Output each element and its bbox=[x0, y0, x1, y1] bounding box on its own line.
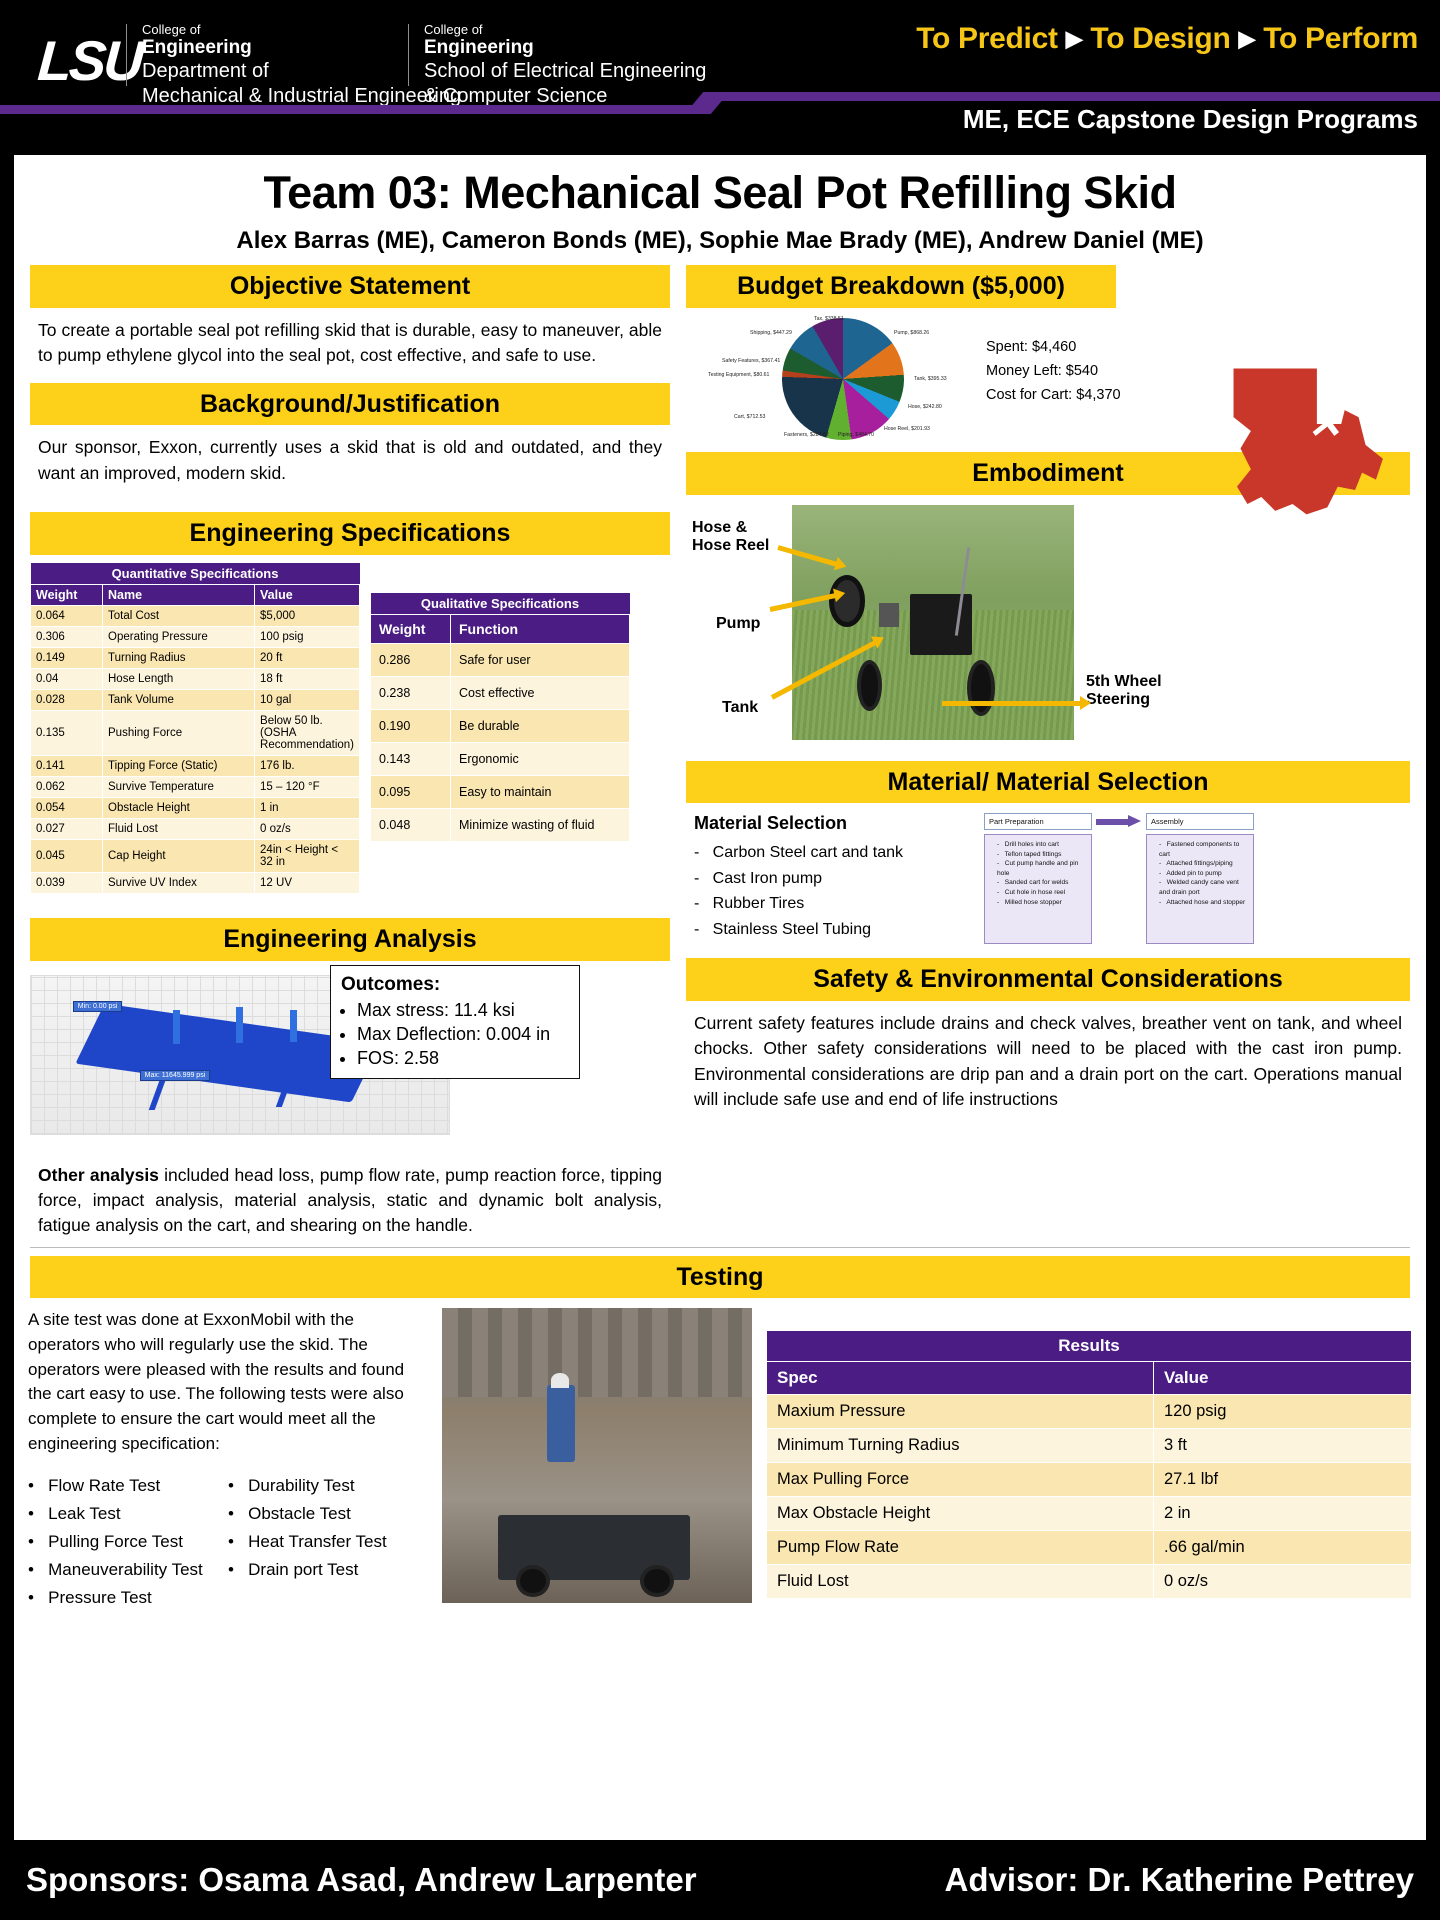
list-item: Heat Transfer Test bbox=[228, 1528, 387, 1556]
material-list: Carbon Steel cart and tank Cast Iron pum… bbox=[694, 840, 974, 942]
test-wheel-left bbox=[516, 1565, 550, 1597]
quant-header-weight: Weight bbox=[31, 584, 103, 605]
testing-lists: Flow Rate Test Leak Test Pulling Force T… bbox=[28, 1472, 428, 1612]
dept-me-line1: Department of bbox=[142, 59, 461, 84]
table-row: 0.027Fluid Lost0 oz/s bbox=[31, 818, 360, 839]
flow-steps-prep: Drill holes into cart Teflon taped fitti… bbox=[984, 834, 1092, 944]
budget-summary: Spent: $4,460 Money Left: $540 Cost for … bbox=[986, 314, 1121, 408]
list-item: Added pin to pump bbox=[1159, 869, 1249, 879]
quant-header-value: Value bbox=[255, 584, 360, 605]
label-fifth-wheel-text: 5th Wheel Steering bbox=[1086, 673, 1162, 708]
list-item: Pulling Force Test bbox=[28, 1528, 218, 1556]
testing-content-row: A site test was done at ExxonMobil with … bbox=[14, 1298, 1426, 1612]
list-item: Fastened components to cart bbox=[1159, 840, 1249, 859]
list-item: Milled hose stopper bbox=[997, 898, 1087, 908]
dept-ece-engineering: Engineering bbox=[424, 37, 706, 59]
table-row: 0.149Turning Radius20 ft bbox=[31, 647, 360, 668]
cell-value: 24in < Height < 32 in bbox=[255, 839, 360, 872]
cell-value: 1 in bbox=[255, 797, 360, 818]
qual-header-function: Function bbox=[451, 614, 630, 643]
results-table-title: Results bbox=[767, 1331, 1412, 1362]
cell-name: Survive UV Index bbox=[103, 872, 255, 893]
page-header: LSU College of Engineering Department of… bbox=[0, 0, 1440, 145]
cell-value: 20 ft bbox=[255, 647, 360, 668]
cell-weight: 0.04 bbox=[31, 668, 103, 689]
tagline-design: To Design bbox=[1090, 22, 1230, 55]
qualitative-specs-table: Qualitative Specifications Weight Functi… bbox=[370, 593, 630, 842]
safety-text: Current safety features include drains a… bbox=[686, 1001, 1410, 1117]
qual-header-row: Weight Function bbox=[371, 614, 630, 643]
list-item: Stainless Steel Tubing bbox=[694, 917, 974, 943]
pie-label-safety: Safety Features, $367.41 bbox=[722, 358, 780, 364]
objective-text: To create a portable seal pot refilling … bbox=[30, 308, 670, 373]
fea-pin-3 bbox=[290, 1010, 297, 1042]
cell-weight: 0.028 bbox=[31, 689, 103, 710]
quantitative-table-wrap: Quantitative Specifications Weight Name … bbox=[30, 563, 360, 894]
hard-hat bbox=[551, 1373, 570, 1388]
pie-label-pump: Pump, $868.26 bbox=[894, 330, 929, 336]
cell-value: 100 psig bbox=[255, 626, 360, 647]
list-item: Max Deflection: 0.004 in bbox=[357, 1022, 569, 1046]
operator-figure bbox=[547, 1385, 575, 1462]
cell-value: 3 ft bbox=[1154, 1429, 1412, 1463]
pie-graphic bbox=[782, 318, 904, 440]
cell-value: 12 UV bbox=[255, 872, 360, 893]
dept-ece-line1: School of Electrical Engineering bbox=[424, 59, 706, 84]
capstone-program-label: ME, ECE Capstone Design Programs bbox=[963, 104, 1418, 135]
testing-list-right: Durability Test Obstacle Test Heat Trans… bbox=[228, 1472, 387, 1612]
wheel-rear bbox=[967, 660, 995, 716]
pie-label-piping: Piping, $484.70 bbox=[838, 432, 874, 438]
cell-weight: 0.048 bbox=[371, 808, 451, 841]
cell-spec: Maxium Pressure bbox=[767, 1395, 1154, 1429]
table-row: 0.135Pushing ForceBelow 50 lb. (OSHA Rec… bbox=[31, 710, 360, 755]
list-item: Durability Test bbox=[228, 1472, 387, 1500]
cell-value: 0 oz/s bbox=[255, 818, 360, 839]
outcomes-list: Max stress: 11.4 ksi Max Deflection: 0.0… bbox=[341, 998, 569, 1071]
cell-weight: 0.054 bbox=[31, 797, 103, 818]
results-header-value: Value bbox=[1154, 1362, 1412, 1395]
lsu-logo: LSU bbox=[36, 28, 144, 93]
testing-list-left: Flow Rate Test Leak Test Pulling Force T… bbox=[28, 1472, 218, 1612]
fea-analysis-area: Min: 0.00 psi Max: 11645.999 psi Load Ca… bbox=[30, 965, 670, 1155]
flow-head-assembly: Assembly bbox=[1146, 813, 1254, 830]
section-divider bbox=[30, 1247, 1410, 1248]
cell-value: Below 50 lb. (OSHA Recommendation) bbox=[255, 710, 360, 755]
pie-label-fasteners: Fasteners, $284.82 bbox=[784, 432, 829, 438]
process-flow-diagram: Part Preparation Drill holes into cart T… bbox=[984, 813, 1254, 944]
cell-weight: 0.190 bbox=[371, 709, 451, 742]
cell-name: Tipping Force (Static) bbox=[103, 755, 255, 776]
cell-weight: 0.143 bbox=[371, 742, 451, 775]
table-row: 0.04Hose Length18 ft bbox=[31, 668, 360, 689]
cell-function: Minimize wasting of fluid bbox=[451, 808, 630, 841]
label-fifth-wheel: 5th Wheel Steering bbox=[1086, 673, 1162, 710]
cell-function: Safe for user bbox=[451, 643, 630, 676]
list-item: Cut hole in hose reel bbox=[997, 888, 1087, 898]
cell-value: 18 ft bbox=[255, 668, 360, 689]
cell-function: Be durable bbox=[451, 709, 630, 742]
embodiment-figure: Hose & Hose Reel Pump Tank 5th Wheel Ste… bbox=[686, 505, 1410, 755]
table-row: Maxium Pressure120 psig bbox=[767, 1395, 1412, 1429]
outcomes-box: Outcomes: Max stress: 11.4 ksi Max Defle… bbox=[330, 965, 580, 1080]
table-row: 0.045Cap Height24in < Height < 32 in bbox=[31, 839, 360, 872]
fea-pin-2 bbox=[236, 1007, 243, 1043]
cell-spec: Max Obstacle Height bbox=[767, 1497, 1154, 1531]
cell-value: 176 lb. bbox=[255, 755, 360, 776]
material-subheading: Material Selection bbox=[694, 813, 974, 834]
arrow-shaft bbox=[1096, 819, 1128, 825]
table-row: 0.028Tank Volume10 gal bbox=[31, 689, 360, 710]
material-heading: Material/ Material Selection bbox=[686, 761, 1410, 804]
testing-photo bbox=[442, 1308, 752, 1603]
list-item: Leak Test bbox=[28, 1500, 218, 1528]
list-item: Rubber Tires bbox=[694, 891, 974, 917]
testing-description-block: A site test was done at ExxonMobil with … bbox=[28, 1308, 428, 1612]
cell-name: Turning Radius bbox=[103, 647, 255, 668]
x-mark-icon: ✕ bbox=[1307, 399, 1342, 448]
quant-header-name: Name bbox=[103, 584, 255, 605]
list-item: Maneuverability Test bbox=[28, 1556, 218, 1584]
divider-ece bbox=[408, 24, 409, 86]
table-row: Fluid Lost0 oz/s bbox=[767, 1565, 1412, 1599]
material-selection-area: Material Selection Carbon Steel cart and… bbox=[686, 803, 1410, 944]
other-analysis-text: Other analysis included head loss, pump … bbox=[30, 1155, 670, 1239]
cell-spec: Pump Flow Rate bbox=[767, 1531, 1154, 1565]
test-wheel-right bbox=[640, 1565, 674, 1597]
list-item: Pressure Test bbox=[28, 1584, 218, 1612]
pump-object bbox=[879, 603, 899, 627]
cell-name: Cap Height bbox=[103, 839, 255, 872]
cell-value: 27.1 lbf bbox=[1154, 1463, 1412, 1497]
cell-name: Fluid Lost bbox=[103, 818, 255, 839]
budget-pie-chart: Shipping, $447.29 Safety Features, $367.… bbox=[686, 314, 986, 444]
flow-steps-assembly: Fastened components to cart Attached fit… bbox=[1146, 834, 1254, 944]
cell-weight: 0.062 bbox=[31, 776, 103, 797]
label-pump: Pump bbox=[716, 615, 760, 633]
cell-function: Ergonomic bbox=[451, 742, 630, 775]
divider-me bbox=[126, 24, 127, 86]
cell-value: 15 – 120 °F bbox=[255, 776, 360, 797]
table-row: 0.062Survive Temperature15 – 120 °F bbox=[31, 776, 360, 797]
page-title: Team 03: Mechanical Seal Pot Refilling S… bbox=[14, 167, 1426, 219]
cell-name: Hose Length bbox=[103, 668, 255, 689]
list-item: FOS: 2.58 bbox=[357, 1046, 569, 1070]
department-me-block: College of Engineering Department of Mec… bbox=[142, 22, 461, 109]
qualitative-table-wrap: Qualitative Specifications Weight Functi… bbox=[370, 563, 630, 842]
cell-weight: 0.135 bbox=[31, 710, 103, 755]
testing-description: A site test was done at ExxonMobil with … bbox=[28, 1308, 428, 1456]
quant-table-title: Quantitative Specifications bbox=[31, 563, 360, 585]
tagline-predict: To Predict bbox=[916, 22, 1057, 55]
table-row: 0.190Be durable bbox=[371, 709, 630, 742]
table-row: Minimum Turning Radius3 ft bbox=[767, 1429, 1412, 1463]
table-row: Max Obstacle Height2 in bbox=[767, 1497, 1412, 1531]
cell-name: Operating Pressure bbox=[103, 626, 255, 647]
cell-value: 0 oz/s bbox=[1154, 1565, 1412, 1599]
table-row: 0.064Total Cost$5,000 bbox=[31, 605, 360, 626]
hose-reel-object bbox=[829, 575, 866, 627]
cell-name: Tank Volume bbox=[103, 689, 255, 710]
embodiment-photo-wrap bbox=[792, 505, 1074, 743]
list-item: Carbon Steel cart and tank bbox=[694, 840, 974, 866]
objective-heading: Objective Statement bbox=[30, 265, 670, 308]
table-row: 0.286Safe for user bbox=[371, 643, 630, 676]
cell-weight: 0.045 bbox=[31, 839, 103, 872]
table-row: 0.238Cost effective bbox=[371, 676, 630, 709]
triangle-right-icon-2: ▶ bbox=[1239, 26, 1256, 51]
list-item: Drain port Test bbox=[228, 1556, 387, 1584]
list-item: Max stress: 11.4 ksi bbox=[357, 998, 569, 1022]
right-column: Budget Breakdown ($5,000) ✕ Shipping, $4… bbox=[686, 265, 1410, 1239]
results-header-spec: Spec bbox=[767, 1362, 1154, 1395]
budget-spent: Spent: $4,460 bbox=[986, 336, 1121, 360]
flow-arrow-right-icon bbox=[1096, 815, 1142, 828]
pie-label-shipping: Shipping, $447.29 bbox=[750, 330, 792, 336]
table-row: 0.039Survive UV Index12 UV bbox=[31, 872, 360, 893]
results-table-wrap: Results Spec Value Maxium Pressure120 ps… bbox=[766, 1308, 1412, 1612]
tank-object bbox=[910, 594, 972, 655]
outcomes-title: Outcomes: bbox=[341, 974, 569, 996]
results-header-row: Spec Value bbox=[767, 1362, 1412, 1395]
cell-function: Easy to maintain bbox=[451, 775, 630, 808]
author-list: Alex Barras (ME), Cameron Bonds (ME), So… bbox=[14, 227, 1426, 255]
cell-weight: 0.141 bbox=[31, 755, 103, 776]
cell-name: Survive Temperature bbox=[103, 776, 255, 797]
qual-header-weight: Weight bbox=[371, 614, 451, 643]
table-row: 0.048Minimize wasting of fluid bbox=[371, 808, 630, 841]
cell-spec: Minimum Turning Radius bbox=[767, 1429, 1154, 1463]
background-text: Our sponsor, Exxon, currently uses a ski… bbox=[30, 425, 670, 490]
table-row: 0.141Tipping Force (Static)176 lb. bbox=[31, 755, 360, 776]
page-footer: Sponsors: Osama Asad, Andrew Larpenter A… bbox=[0, 1840, 1440, 1920]
cell-weight: 0.238 bbox=[371, 676, 451, 709]
fea-pin-1 bbox=[173, 1010, 180, 1044]
flow-column-prep: Part Preparation Drill holes into cart T… bbox=[984, 813, 1092, 944]
left-column: Objective Statement To create a portable… bbox=[30, 265, 670, 1239]
other-analysis-label: Other analysis bbox=[38, 1165, 159, 1185]
label-tank: Tank bbox=[722, 699, 758, 717]
cell-value: .66 gal/min bbox=[1154, 1531, 1412, 1565]
safety-heading: Safety & Environmental Considerations bbox=[686, 958, 1410, 1001]
quantitative-specs-table: Quantitative Specifications Weight Name … bbox=[30, 563, 360, 894]
fea-min-label: Min: 0.00 psi bbox=[73, 1001, 123, 1012]
dept-me-engineering: Engineering bbox=[142, 37, 461, 59]
cell-weight: 0.064 bbox=[31, 605, 103, 626]
poster-body: Team 03: Mechanical Seal Pot Refilling S… bbox=[14, 155, 1426, 1840]
pie-label-tax: Tax, $338.51 bbox=[814, 316, 844, 322]
list-item: Obstacle Test bbox=[228, 1500, 387, 1528]
cell-weight: 0.039 bbox=[31, 872, 103, 893]
material-list-block: Material Selection Carbon Steel cart and… bbox=[694, 813, 974, 944]
program-tagline: To Predict ▶ To Design ▶ To Perform bbox=[916, 22, 1418, 56]
arrow-fifth-wheel bbox=[942, 701, 1082, 706]
list-item: Welded candy cane vent and drain port bbox=[1159, 878, 1249, 897]
pie-label-hose: Hose, $242.80 bbox=[908, 404, 942, 410]
list-item: Attached hose and stopper bbox=[1159, 898, 1249, 908]
list-item: Attached fittings/piping bbox=[1159, 859, 1249, 869]
table-row: 0.306Operating Pressure100 psig bbox=[31, 626, 360, 647]
dept-me-college: College of bbox=[142, 22, 461, 37]
quant-header-row: Weight Name Value bbox=[31, 584, 360, 605]
cell-weight: 0.095 bbox=[371, 775, 451, 808]
purple-accent-left bbox=[0, 105, 700, 114]
pie-label-cart: Cart, $712.53 bbox=[734, 414, 765, 420]
list-item: Flow Rate Test bbox=[28, 1472, 218, 1500]
background-heading: Background/Justification bbox=[30, 383, 670, 426]
table-row: 0.054Obstacle Height1 in bbox=[31, 797, 360, 818]
analysis-heading: Engineering Analysis bbox=[30, 918, 670, 961]
cell-value: 10 gal bbox=[255, 689, 360, 710]
cell-spec: Fluid Lost bbox=[767, 1565, 1154, 1599]
pie-label-hosereel: Hose Reel, $201.93 bbox=[884, 426, 930, 432]
label-hose-reel: Hose & Hose Reel bbox=[692, 519, 769, 556]
cell-name: Pushing Force bbox=[103, 710, 255, 755]
cell-weight: 0.149 bbox=[31, 647, 103, 668]
cell-function: Cost effective bbox=[451, 676, 630, 709]
advisor-label: Advisor: Dr. Katherine Pettrey bbox=[945, 1861, 1414, 1899]
cell-value: $5,000 bbox=[255, 605, 360, 626]
testing-photo-wrap bbox=[442, 1308, 752, 1603]
list-item: Teflon taped fittings bbox=[997, 850, 1087, 860]
cell-spec: Max Pulling Force bbox=[767, 1463, 1154, 1497]
cell-weight: 0.286 bbox=[371, 643, 451, 676]
flow-head-part-preparation: Part Preparation bbox=[984, 813, 1092, 830]
cell-name: Total Cost bbox=[103, 605, 255, 626]
table-row: Max Pulling Force27.1 lbf bbox=[767, 1463, 1412, 1497]
specs-tables-row: Quantitative Specifications Weight Name … bbox=[30, 563, 670, 894]
budget-heading: Budget Breakdown ($5,000) bbox=[686, 265, 1116, 308]
top-columns: Objective Statement To create a portable… bbox=[14, 255, 1426, 1239]
cell-value: 2 in bbox=[1154, 1497, 1412, 1531]
table-row: Pump Flow Rate.66 gal/min bbox=[767, 1531, 1412, 1565]
triangle-right-icon: ▶ bbox=[1066, 26, 1083, 51]
budget-money-left: Money Left: $540 bbox=[986, 360, 1121, 384]
list-item: Cast Iron pump bbox=[694, 866, 974, 892]
budget-cart-cost: Cost for Cart: $4,370 bbox=[986, 384, 1121, 408]
pie-label-tank: Tank, $395.33 bbox=[914, 376, 947, 382]
list-item: Drill holes into cart bbox=[997, 840, 1087, 850]
specs-heading: Engineering Specifications bbox=[30, 512, 670, 555]
qual-table-title: Qualitative Specifications bbox=[371, 593, 630, 615]
dept-ece-college: College of bbox=[424, 22, 706, 37]
poster-root: LSU College of Engineering Department of… bbox=[0, 0, 1440, 1920]
arrow-head bbox=[1128, 815, 1141, 827]
table-row: 0.143Ergonomic bbox=[371, 742, 630, 775]
tagline-perform: To Perform bbox=[1263, 22, 1418, 55]
testing-heading: Testing bbox=[30, 1256, 1410, 1299]
cell-weight: 0.027 bbox=[31, 818, 103, 839]
table-row: 0.095Easy to maintain bbox=[371, 775, 630, 808]
cell-weight: 0.306 bbox=[31, 626, 103, 647]
purple-accent-right bbox=[712, 92, 1440, 101]
pie-label-testing: Testing Equipment, $80.61 bbox=[708, 372, 769, 378]
fea-max-label: Max: 11645.999 psi bbox=[140, 1070, 211, 1081]
plant-piping-background bbox=[442, 1308, 752, 1397]
cell-name: Obstacle Height bbox=[103, 797, 255, 818]
list-item: Cut pump handle and pin hole bbox=[997, 859, 1087, 878]
flow-column-assembly: Assembly Fastened components to cart Att… bbox=[1146, 813, 1254, 944]
testing-section: Testing bbox=[14, 1256, 1426, 1299]
department-ece-block: College of Engineering School of Electri… bbox=[424, 22, 706, 109]
results-table: Results Spec Value Maxium Pressure120 ps… bbox=[766, 1330, 1412, 1599]
sponsors-label: Sponsors: Osama Asad, Andrew Larpenter bbox=[26, 1861, 697, 1899]
cell-value: 120 psig bbox=[1154, 1395, 1412, 1429]
list-item: Sanded cart for welds bbox=[997, 878, 1087, 888]
